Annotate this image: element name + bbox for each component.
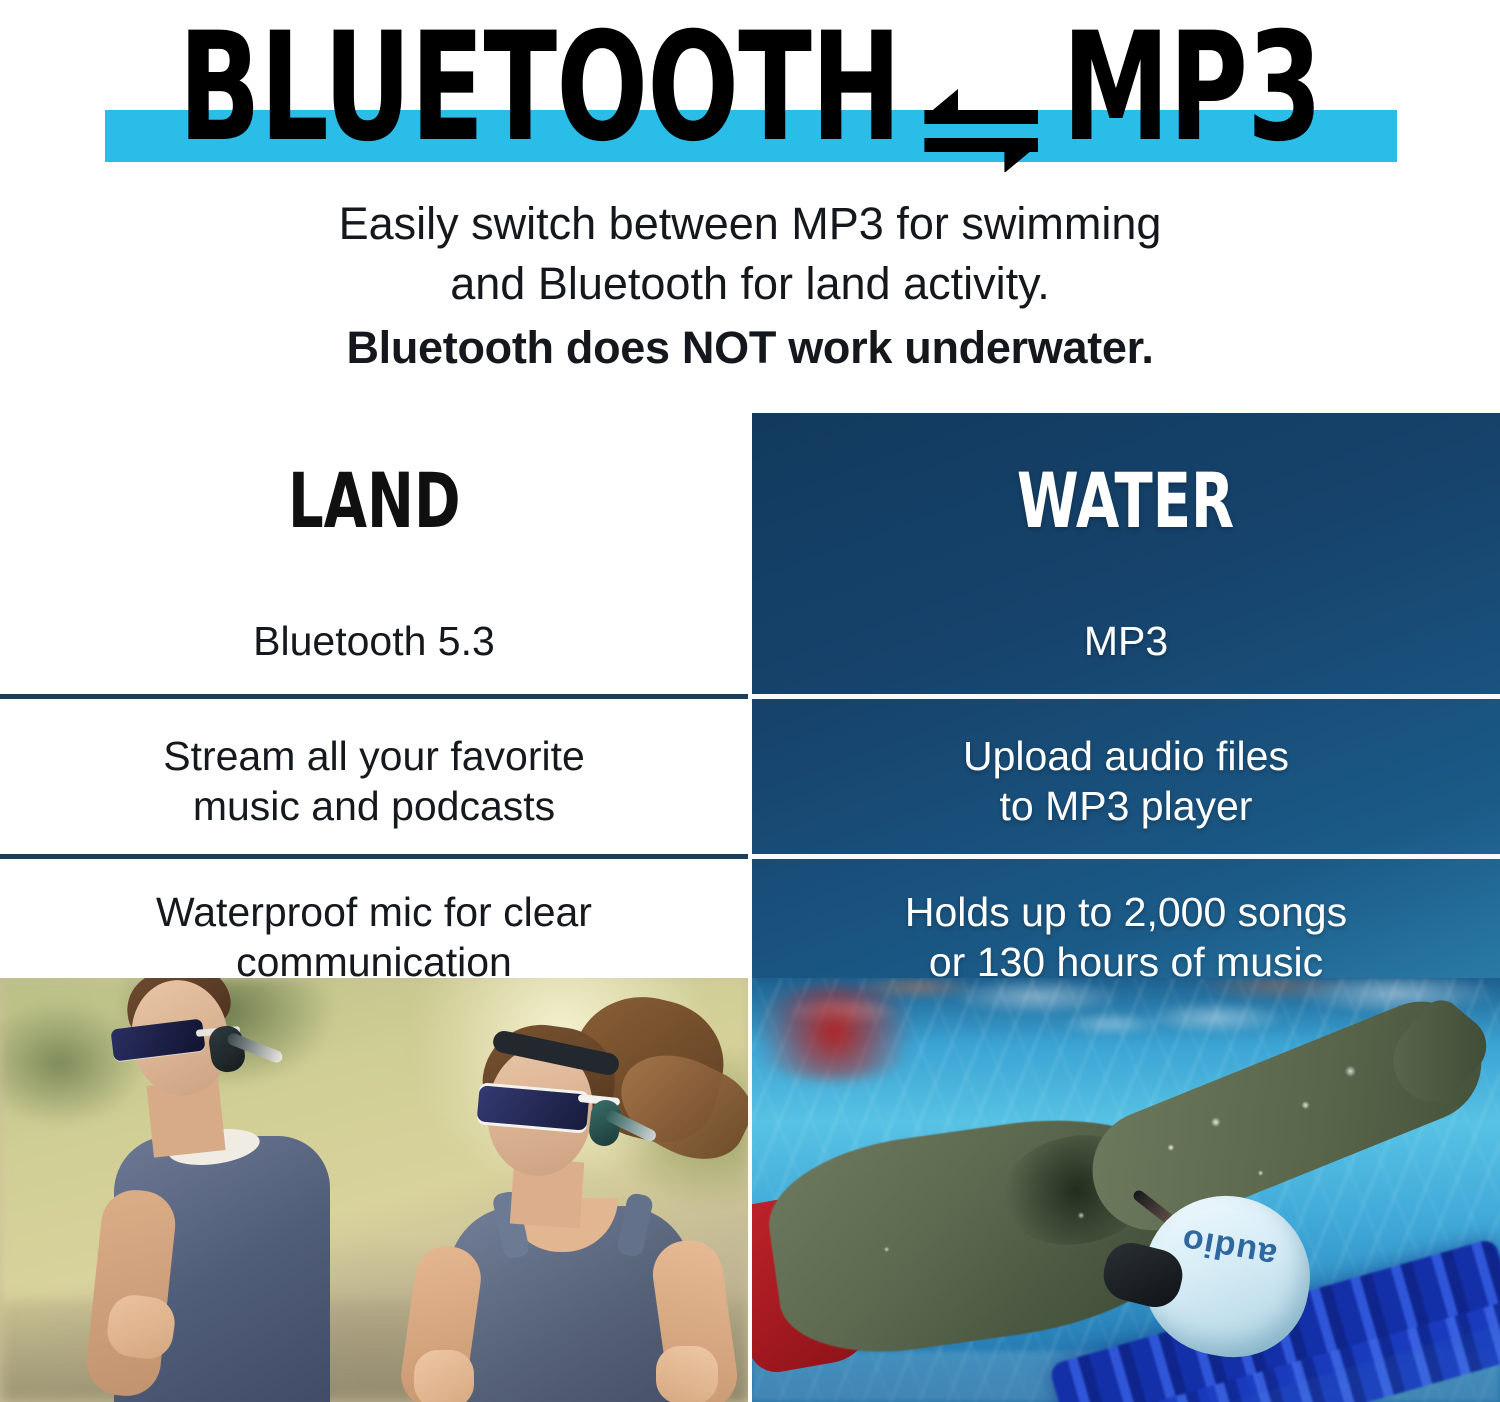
row-divider	[752, 694, 1500, 699]
title-right-word: MP3	[1062, 13, 1321, 163]
table-row: Stream all your favorite music and podca…	[0, 708, 748, 854]
cell-text: music and podcasts	[163, 781, 585, 831]
cell-text: Upload audio files	[963, 731, 1289, 781]
row-gap	[752, 859, 1500, 868]
air-bubbles	[752, 978, 1500, 1402]
cell-text: Bluetooth 5.3	[253, 616, 495, 666]
comparison-table: LAND Bluetooth 5.3 Stream all your favor…	[0, 413, 1500, 978]
photo-water-swimmer: audio	[752, 978, 1500, 1402]
page-title: BLUETOOTH MP3	[150, 0, 1350, 175]
table-row: Bluetooth 5.3	[0, 588, 748, 694]
title-block: BLUETOOTH MP3	[0, 0, 1500, 180]
comparison-column-land: LAND Bluetooth 5.3 Stream all your favor…	[0, 413, 748, 978]
row-gap	[0, 699, 748, 708]
table-row: MP3	[752, 588, 1500, 694]
cell-text: Stream all your favorite	[163, 731, 585, 781]
row-gap	[0, 859, 748, 868]
row-divider	[752, 854, 1500, 859]
cell-text: MP3	[1084, 616, 1168, 666]
title-left-word: BLUETOOTH	[178, 13, 900, 163]
row-gap	[752, 699, 1500, 708]
subtitle-line-1: Easily switch between MP3 for swimming	[0, 194, 1500, 254]
comparison-column-water: WATER MP3 Upload audio files to MP3 play…	[752, 413, 1500, 978]
cell-text: to MP3 player	[963, 781, 1289, 831]
subtitle-emphasis: Bluetooth does NOT work underwater.	[0, 318, 1500, 378]
column-header-water: WATER	[752, 413, 1500, 588]
infographic-page: BLUETOOTH MP3 Easily switch between MP3 …	[0, 0, 1500, 1402]
female-runner-fist-left	[414, 1350, 474, 1402]
column-header-land-label: LAND	[288, 463, 461, 539]
cell-text: Holds up to 2,000 songs	[905, 887, 1347, 937]
subtitle-block: Easily switch between MP3 for swimming a…	[0, 194, 1500, 378]
female-runner-fist-right	[656, 1346, 718, 1402]
column-header-land: LAND	[0, 413, 748, 588]
left-right-harpoon-swap-icon	[921, 46, 1041, 142]
photo-strip: audio	[0, 978, 1500, 1402]
subtitle-line-2: and Bluetooth for land activity.	[0, 254, 1500, 314]
column-header-water-label: WATER	[1017, 463, 1234, 539]
table-row: Upload audio files to MP3 player	[752, 708, 1500, 854]
cell-text: Waterproof mic for clear	[156, 887, 592, 937]
photo-land-runners	[0, 978, 748, 1402]
